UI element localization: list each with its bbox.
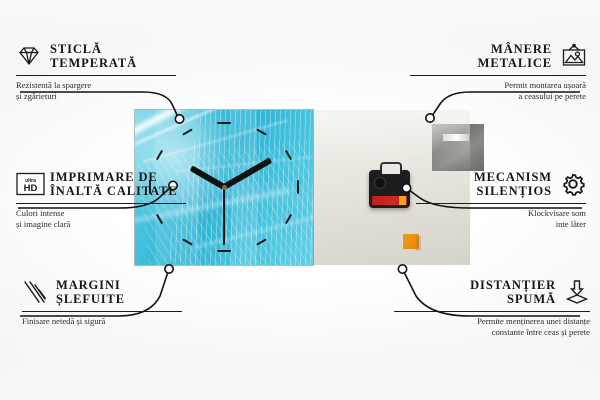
clock-center-pin (222, 185, 227, 190)
feature-title-line1: MARGINI (56, 278, 125, 292)
feature-title-line1: MECANISM (474, 170, 552, 184)
divider (16, 203, 186, 204)
feature-tempered-glass[interactable]: STICLĂ TEMPERATĂ Rezistentă la spargere … (16, 42, 176, 101)
feature-title-line1: STICLĂ (50, 42, 137, 56)
mechanism-knob (374, 177, 386, 189)
picture-frame-hanger-icon (560, 43, 586, 69)
feature-desc-line1: Culori intense (16, 208, 186, 219)
feature-desc-line1: Finisare netedă și sigură (22, 316, 182, 327)
feature-metal-handles[interactable]: MÂNERE METALICE Permit montarea ușoară a… (410, 42, 586, 101)
infographic-canvas: STICLĂ TEMPERATĂ Rezistentă la spargere … (0, 0, 600, 400)
feature-silent-mechanism[interactable]: MECANISM SILENȚIOS Klockvisare som inte … (416, 170, 586, 229)
feature-desc-line1: Permite menținerea unei distanțe (394, 316, 590, 327)
svg-text:HD: HD (24, 183, 38, 194)
feature-header: MECANISM SILENȚIOS (416, 170, 586, 198)
feature-header: MÂNERE METALICE (410, 42, 586, 70)
feature-desc-line1: Rezistentă la spargere (16, 80, 176, 91)
feature-title-line1: MÂNERE (478, 42, 552, 56)
ultra-hd-icon: ultra HD (16, 171, 42, 197)
divider (394, 311, 590, 312)
feature-foam-spacer[interactable]: DISTANȚIER SPUMĂ Permite menținerea unei… (394, 278, 590, 337)
feature-desc-line2: constante între ceas și perete (394, 327, 590, 338)
feature-header: DISTANȚIER SPUMĂ (394, 278, 590, 306)
feature-header: ultra HD IMPRIMARE DE ÎNALTĂ CALITATE (16, 170, 186, 198)
metal-hanger-plate (432, 124, 484, 171)
feature-high-quality-print[interactable]: ultra HD IMPRIMARE DE ÎNALTĂ CALITATE Cu… (16, 170, 186, 229)
feature-desc-line1: Klockvisare som (416, 208, 586, 219)
feature-desc-line2: inte låter (416, 219, 586, 230)
feature-desc-line2: a ceasului pe perete (410, 91, 586, 102)
feature-header: MARGINI ȘLEFUITE (22, 278, 182, 306)
feature-title-line2: METALICE (478, 56, 552, 70)
divider (16, 75, 176, 76)
feature-title-line2: TEMPERATĂ (50, 56, 137, 70)
feature-desc-line2: și imagine clară (16, 219, 186, 230)
gear-icon (560, 171, 586, 197)
diagonal-stripes-icon (22, 279, 48, 305)
diamond-icon (16, 43, 42, 69)
feature-desc-line1: Permit montarea ușoară (410, 80, 586, 91)
feature-title-line2: ȘLEFUITE (56, 292, 125, 306)
battery (372, 196, 407, 205)
feature-title-line1: DISTANȚIER (470, 278, 556, 292)
clock-tick (217, 250, 231, 252)
foam-spacer-block (403, 234, 419, 249)
press-down-layers-icon (564, 279, 590, 305)
feature-title-line2: SPUMĂ (470, 292, 556, 306)
feature-desc-line2: și zgârieturi (16, 91, 176, 102)
mechanism-hanger-hook (380, 162, 402, 174)
clock-second-hand (223, 187, 225, 245)
feature-title-line2: ÎNALTĂ CALITATE (50, 184, 178, 198)
divider (410, 75, 586, 76)
feature-header: STICLĂ TEMPERATĂ (16, 42, 176, 70)
divider (416, 203, 586, 204)
clock-tick (297, 180, 299, 194)
quartz-mechanism (369, 170, 410, 208)
clock-tick (217, 122, 231, 124)
feature-title-line1: IMPRIMARE DE (50, 170, 178, 184)
feature-polished-edges[interactable]: MARGINI ȘLEFUITE Finisare netedă și sigu… (22, 278, 182, 327)
divider (22, 311, 182, 312)
feature-title-line2: SILENȚIOS (474, 184, 552, 198)
